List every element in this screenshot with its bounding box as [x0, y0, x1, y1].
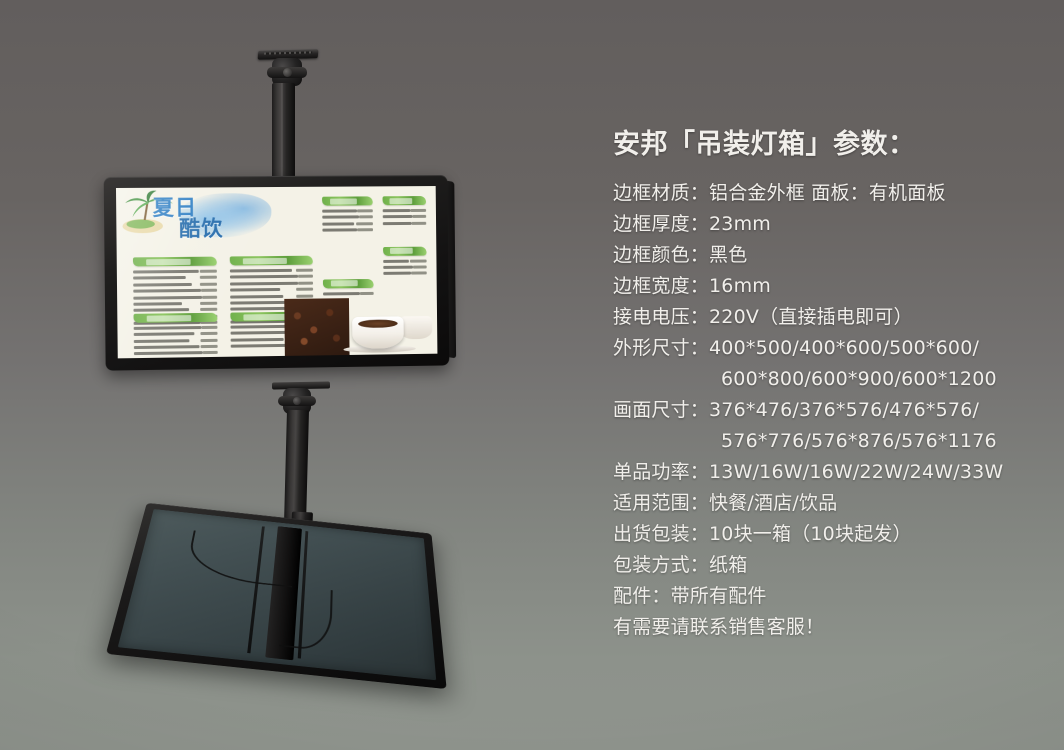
- menu-item-name: [230, 282, 298, 286]
- menu-section: [382, 196, 426, 226]
- menu-item-price: [202, 351, 218, 354]
- menu-section: [134, 313, 219, 359]
- lightbox-display-front: 夏日 酷饮: [104, 175, 450, 371]
- power-cable-lower: [279, 585, 333, 651]
- spec-line: 外形尺寸：400*500/400*600/500*600/: [613, 333, 1043, 364]
- menu-item-name: [322, 209, 357, 212]
- menu-item-name: [133, 276, 185, 280]
- menu-item-price: [296, 288, 313, 291]
- coffee-photo: [285, 297, 438, 356]
- menu-item-price: [357, 209, 372, 212]
- menu-item-name: [383, 272, 411, 275]
- menu-item-price: [202, 295, 218, 298]
- menu-item-price: [200, 308, 217, 311]
- menu-item-name: [382, 215, 412, 218]
- menu-item-price: [201, 326, 217, 329]
- section-header-banner: [382, 196, 426, 205]
- menu-item-name: [382, 209, 410, 212]
- menu-item-name: [133, 270, 199, 274]
- menu-item-price: [201, 358, 218, 359]
- menu-item-price: [357, 228, 373, 231]
- menu-item-name: [230, 275, 298, 279]
- spec-line: 包装方式：纸箱: [613, 550, 1043, 581]
- menu-rows: [382, 207, 426, 226]
- menu-item-price: [356, 222, 373, 225]
- menu-rows: [383, 257, 427, 277]
- aluminum-frame-bezel: 夏日 酷饮: [104, 175, 450, 371]
- menu-item-name: [134, 351, 203, 355]
- menu-item-price: [201, 332, 218, 335]
- section-header-banner: [134, 313, 218, 323]
- spec-line: 配件：带所有配件: [613, 581, 1043, 612]
- product-photo-scene: 夏日 酷饮: [0, 0, 1064, 750]
- menu-item-name: [133, 283, 192, 287]
- coffee-cup-primary: [352, 316, 404, 349]
- coffee-cup-secondary: [399, 316, 433, 339]
- section-header-banner: [383, 246, 427, 255]
- menu-item-row: [134, 356, 218, 358]
- section-header-banner: [133, 257, 217, 267]
- menu-item-price: [200, 276, 217, 279]
- spec-line: 适用范围：快餐/酒店/饮品: [613, 488, 1043, 519]
- back-panel-surface: [118, 509, 436, 680]
- menu-item-price: [201, 338, 218, 341]
- menu-panel: 夏日 酷饮: [116, 186, 437, 358]
- menu-item-price: [413, 215, 427, 218]
- menu-item-price: [413, 265, 427, 268]
- spec-line: 边框材质：铝合金外框 面板：有机面板: [613, 178, 1043, 209]
- menu-item-row: [323, 290, 374, 297]
- menu-rows: [134, 324, 218, 359]
- menu-item-name: [231, 337, 284, 341]
- menu-item-price: [359, 215, 373, 218]
- mount-pole-middle: [284, 410, 309, 521]
- spec-line: 单品功率：13W/16W/16W/22W/24W/33W: [613, 457, 1043, 488]
- spec-line: 接电电压：220V（直接插电即可）: [613, 302, 1043, 333]
- pivot-knuckle-top: [272, 58, 302, 86]
- menu-item-name: [134, 339, 190, 343]
- menu-item-name: [134, 332, 195, 336]
- menu-item-price: [410, 259, 427, 262]
- menu-item-price: [298, 275, 314, 278]
- section-header-banner: [230, 256, 313, 266]
- menu-item-price: [360, 292, 374, 295]
- menu-item-price: [201, 345, 218, 348]
- menu-artwork: 夏日 酷饮: [116, 186, 437, 358]
- menu-item-name: [134, 345, 200, 349]
- menu-item-name: [133, 295, 202, 299]
- menu-item-name: [322, 216, 359, 219]
- menu-item-row: [382, 220, 426, 227]
- menu-section: [322, 196, 373, 233]
- mount-pole-top: [272, 83, 295, 183]
- section-header-banner: [323, 279, 374, 289]
- menu-item-price: [411, 209, 427, 212]
- menu-item-price: [412, 221, 427, 224]
- menu-item-name: [230, 301, 288, 305]
- specification-panel: 安邦「吊装灯箱」参数： 边框材质：铝合金外框 面板：有机面板边框厚度：23mm边…: [613, 128, 1043, 643]
- menu-item-name: [322, 228, 356, 231]
- menu-item-name: [382, 222, 411, 225]
- menu-item-name: [383, 259, 410, 262]
- menu-item-price: [200, 270, 217, 273]
- spec-line: 边框宽度：16mm: [613, 271, 1043, 302]
- menu-item-price: [411, 272, 427, 275]
- power-cable: [185, 531, 296, 588]
- menu-item-name: [230, 288, 280, 292]
- menu-item-name: [230, 294, 283, 298]
- menu-item-name: [322, 222, 354, 225]
- menu-section: [323, 279, 374, 297]
- menu-item-name: [231, 331, 289, 335]
- spec-line: 边框颜色：黑色: [613, 240, 1043, 271]
- spec-line: 边框厚度：23mm: [613, 209, 1043, 240]
- menu-item-name: [133, 302, 182, 306]
- menu-item-name: [133, 308, 189, 312]
- spec-line: 576*776/576*876/576*1176: [613, 426, 1043, 457]
- menu-item-price: [201, 289, 217, 292]
- spec-line: 600*800/600*900/600*1200: [613, 364, 1043, 395]
- coffee-beans-image: [285, 298, 350, 356]
- spec-line: 画面尺寸：376*476/376*576/476*576/: [613, 395, 1043, 426]
- menu-item-price: [298, 281, 313, 284]
- menu-item-name: [230, 269, 292, 273]
- menu-item-name: [133, 289, 201, 293]
- section-header-banner: [322, 196, 373, 205]
- menu-item-name: [134, 326, 202, 330]
- spec-line: 有需要请联系销售客服！: [613, 612, 1043, 643]
- spec-line-list: 边框材质：铝合金外框 面板：有机面板边框厚度：23mm边框颜色：黑色边框宽度：1…: [613, 178, 1043, 643]
- menu-item-name: [383, 266, 413, 269]
- page-title: 安邦「吊装灯箱」参数：: [613, 128, 1043, 162]
- menu-section: [383, 246, 427, 276]
- spec-line: 出货包装：10块一箱（10块起发）: [613, 519, 1043, 550]
- menu-item-price: [200, 302, 217, 305]
- menu-item-row: [383, 270, 427, 277]
- menu-item-price: [296, 269, 313, 272]
- menu-item-row: [322, 227, 373, 234]
- menu-rows: [323, 290, 374, 297]
- menu-item-name: [323, 292, 360, 295]
- menu-rows: [322, 207, 373, 233]
- menu-item-price: [200, 282, 217, 285]
- menu-item-price: [296, 294, 313, 297]
